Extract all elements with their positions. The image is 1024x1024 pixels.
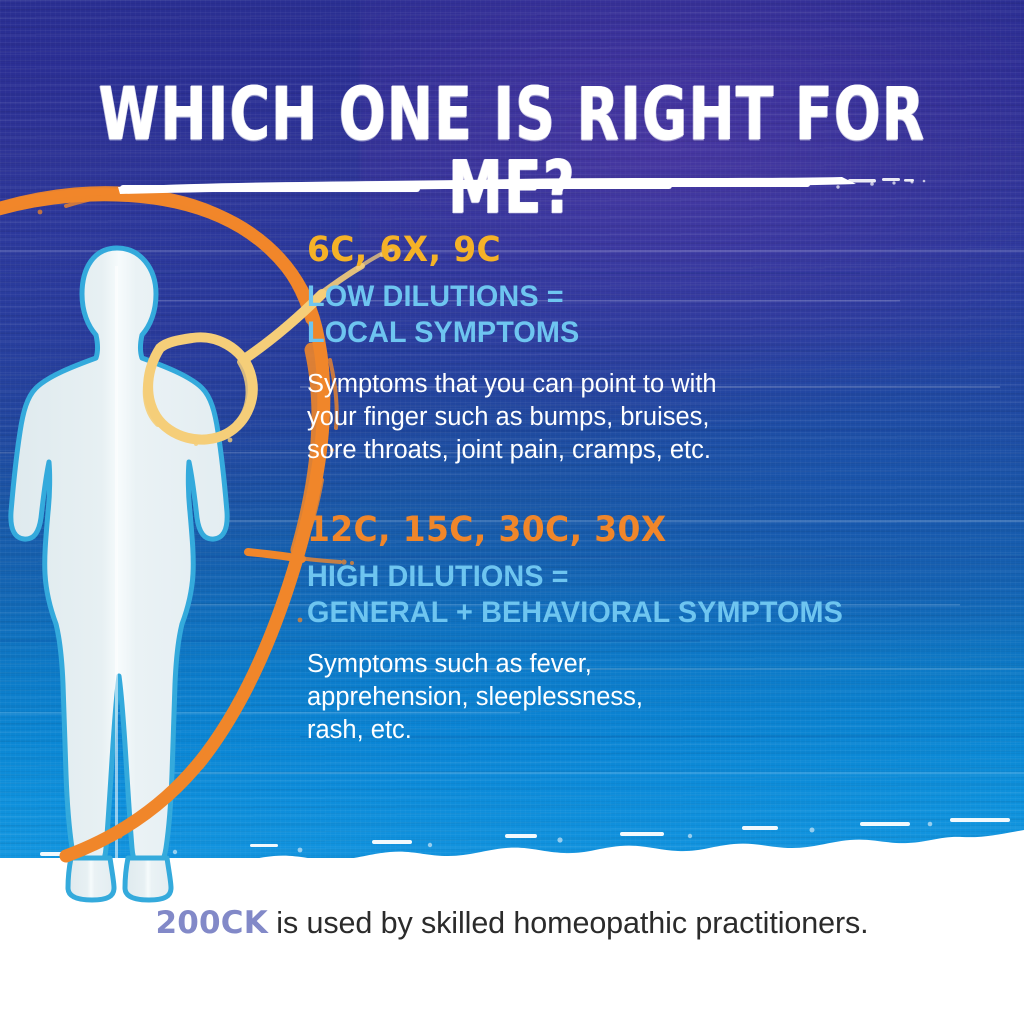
section-subtitle-high: HIGH DILUTIONS = GENERAL + BEHAVIORAL SY… bbox=[307, 559, 941, 631]
section-high-dilutions: 12C, 15C, 30C, 30X HIGH DILUTIONS = GENE… bbox=[307, 512, 967, 746]
footer-highlight-200ck: 200CK bbox=[155, 905, 267, 941]
title-brush-underline bbox=[112, 173, 928, 203]
footer-note: 200CK is used by skilled homeopathic pra… bbox=[0, 905, 1024, 941]
infographic-poster: WHICH ONE IS RIGHT FOR ME? bbox=[0, 0, 1024, 1024]
poster-title-block: WHICH ONE IS RIGHT FOR ME? bbox=[0, 78, 1024, 200]
section-subtitle-low: LOW DILUTIONS = LOCAL SYMPTOMS bbox=[307, 279, 941, 351]
human-body-silhouette bbox=[0, 236, 282, 908]
section-body-high: Symptoms such as fever, apprehension, sl… bbox=[307, 648, 967, 747]
section-low-dilutions: 6C, 6X, 9C LOW DILUTIONS = LOCAL SYMPTOM… bbox=[307, 232, 967, 466]
section-body-low: Symptoms that you can point to with your… bbox=[307, 368, 967, 467]
section-code-high: 12C, 15C, 30C, 30X bbox=[307, 512, 927, 550]
section-code-low: 6C, 6X, 9C bbox=[307, 232, 927, 270]
footer-text: is used by skilled homeopathic practitio… bbox=[268, 906, 869, 940]
content-column: 6C, 6X, 9C LOW DILUTIONS = LOCAL SYMPTOM… bbox=[307, 232, 967, 747]
